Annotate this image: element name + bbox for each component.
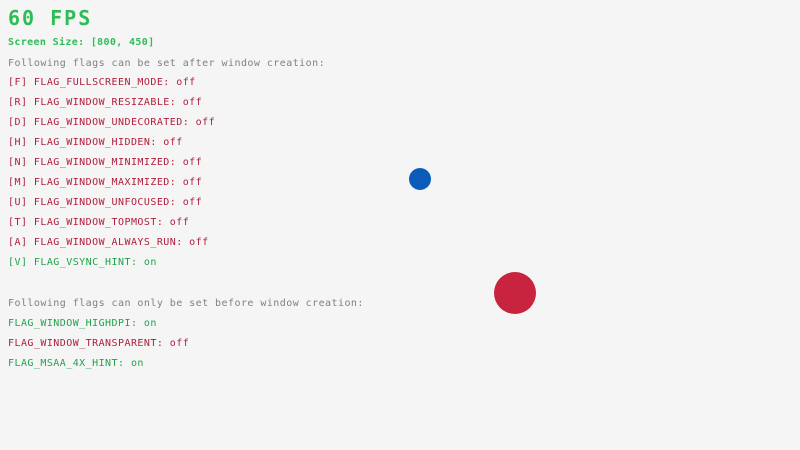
flag-row-window-unfocused[interactable]: [U] FLAG_WINDOW_UNFOCUSED: off (8, 198, 202, 208)
flag-row-msaa-4x-hint: FLAG_MSAA_4X_HINT: on (8, 359, 144, 369)
section-header-after-creation: Following flags can be set after window … (8, 59, 325, 69)
flag-row-window-maximized[interactable]: [M] FLAG_WINDOW_MAXIMIZED: off (8, 178, 202, 188)
flag-row-window-always-run[interactable]: [A] FLAG_WINDOW_ALWAYS_RUN: off (8, 238, 209, 248)
screen-size-label: Screen Size: [800, 450] (8, 38, 155, 48)
flag-row-window-resizable[interactable]: [R] FLAG_WINDOW_RESIZABLE: off (8, 98, 202, 108)
red-ball-shape (494, 272, 536, 314)
blue-ball-shape (409, 168, 431, 190)
app-canvas: 60 FPS Screen Size: [800, 450] Following… (0, 0, 800, 450)
flag-row-fullscreen-mode[interactable]: [F] FLAG_FULLSCREEN_MODE: off (8, 78, 196, 88)
flag-row-window-topmost[interactable]: [T] FLAG_WINDOW_TOPMOST: off (8, 218, 189, 228)
flag-row-window-hidden[interactable]: [H] FLAG_WINDOW_HIDDEN: off (8, 138, 183, 148)
flag-row-vsync-hint[interactable]: [V] FLAG_VSYNC_HINT: on (8, 258, 157, 268)
fps-counter: 60 FPS (8, 8, 92, 28)
flag-row-window-highdpi: FLAG_WINDOW_HIGHDPI: on (8, 319, 157, 329)
section-header-before-creation: Following flags can only be set before w… (8, 299, 364, 309)
flag-row-window-minimized[interactable]: [N] FLAG_WINDOW_MINIMIZED: off (8, 158, 202, 168)
flag-row-window-undecorated[interactable]: [D] FLAG_WINDOW_UNDECORATED: off (8, 118, 215, 128)
flag-row-window-transparent: FLAG_WINDOW_TRANSPARENT: off (8, 339, 189, 349)
